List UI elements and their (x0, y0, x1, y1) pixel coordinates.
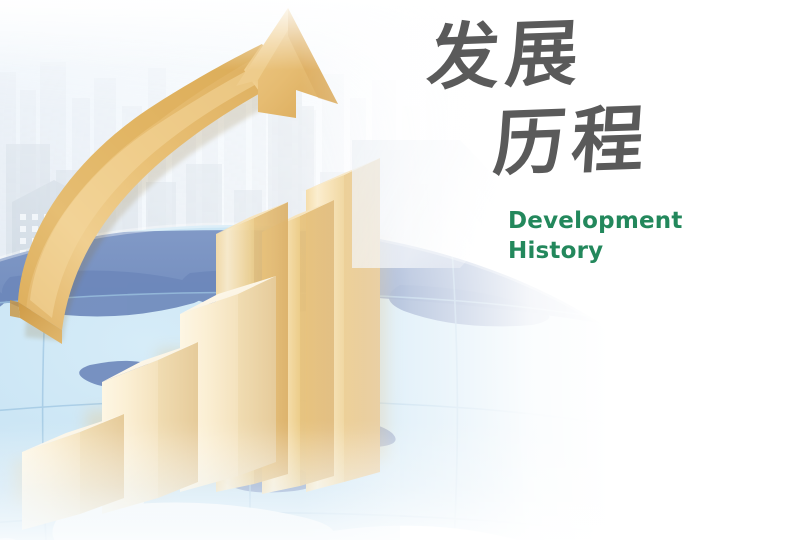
chinese-title-line-2: 历程 (491, 98, 781, 180)
headline-block: 发展 历程 Development History (430, 22, 780, 267)
english-title-block: Development History (508, 206, 780, 267)
english-title-line-2: History (508, 236, 780, 266)
development-history-banner: 发展 历程 Development History (0, 0, 800, 540)
english-title-line-1: Development (508, 206, 780, 236)
chinese-title-line-1: 发展 (425, 10, 781, 94)
